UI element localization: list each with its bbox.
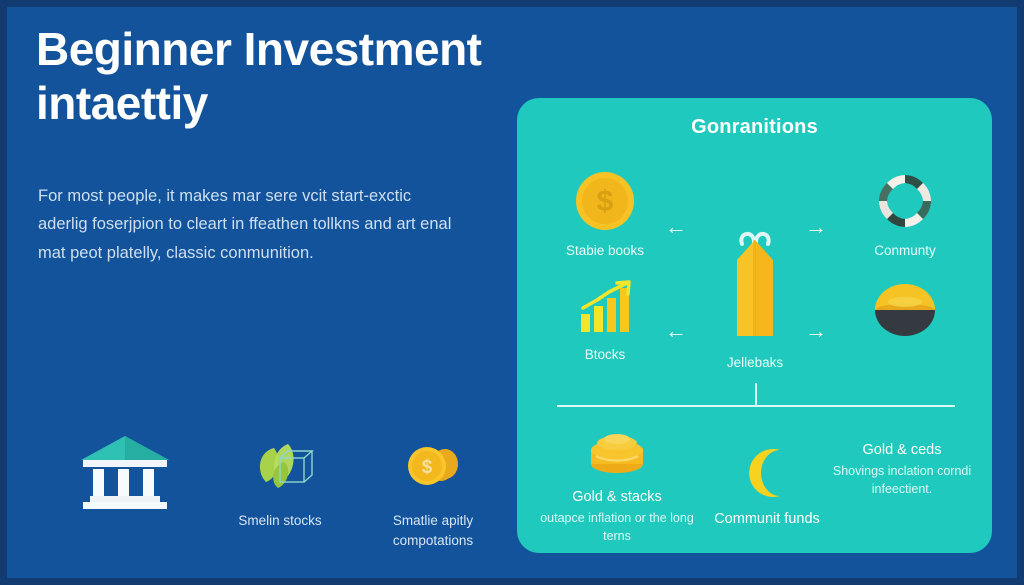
node-stabie-books: $ Stabie books: [535, 170, 675, 258]
arrow-right-bottom-icon: →: [805, 320, 827, 342]
panel-item-title: Communit funds: [687, 511, 847, 527]
node-jellebaks: Jellebaks: [685, 226, 825, 370]
intro-paragraph: For most people, it makes mar sere vcit …: [38, 182, 458, 267]
gold-dome-icon: [869, 280, 941, 342]
infographic-canvas: Beginner Investment intaettiy For most p…: [0, 0, 1024, 585]
coin-stack-icon: $: [399, 442, 467, 500]
leaf-cube-icon: [244, 442, 316, 500]
bottom-item-smatlie-apitly: $ Smatlie apitly compotations: [368, 442, 498, 552]
node-btocks: Btocks: [535, 280, 675, 362]
node-gold-dome: [835, 280, 975, 353]
divider-tick: [755, 383, 757, 405]
arrow-right-top-icon: →: [805, 216, 827, 238]
diagram-panel: Gonranitions $ Stabie books: [517, 98, 992, 553]
panel-item-sub: Shovings inclation corndi infeectient.: [822, 462, 982, 498]
crescent-moon-icon: [740, 446, 794, 500]
bottom-item-smelin-stocks: Smelin stocks: [210, 442, 350, 531]
panel-item-gold-ceds: Gold & ceds Shovings inclation corndi in…: [822, 436, 982, 498]
panel-item-gold-stacks: Gold & stacks outapce inflation or the l…: [537, 428, 697, 545]
bottom-item-label: Smelin stocks: [210, 511, 350, 531]
arrow-left-top-icon: ←: [665, 216, 687, 238]
bottom-item-bank: [60, 432, 190, 521]
node-label: Stabie books: [535, 243, 675, 258]
panel-item-title: Gold & stacks: [537, 489, 697, 505]
arrow-left-bottom-icon: ←: [665, 320, 687, 342]
section-divider: [557, 405, 955, 407]
bottom-icon-strip: Smelin stocks $ Smatlie apitly compotati…: [38, 430, 493, 560]
node-conmunty: Conmunty: [835, 170, 975, 258]
swirl-ring-icon: [874, 170, 936, 232]
panel-title: Gonranitions: [517, 116, 992, 139]
panel-item-title: Gold & ceds: [822, 442, 982, 458]
dollar-coin-icon: $: [574, 170, 636, 232]
node-label: Btocks: [535, 347, 675, 362]
coin-disc-stack-icon: [584, 428, 650, 478]
panel-item-sub: outapce inflation or the long terns: [537, 509, 697, 545]
node-label: Jellebaks: [685, 355, 825, 370]
svg-text:$: $: [597, 185, 614, 218]
bank-icon: [77, 432, 173, 510]
gold-bottle-icon: [720, 226, 790, 344]
svg-text:$: $: [422, 457, 433, 478]
node-label: Conmunty: [835, 243, 975, 258]
bottom-item-label: Smatlie apitly compotations: [368, 511, 498, 552]
bar-growth-icon: [573, 280, 637, 336]
page-title: Beginner Investment intaettiy: [36, 22, 506, 131]
